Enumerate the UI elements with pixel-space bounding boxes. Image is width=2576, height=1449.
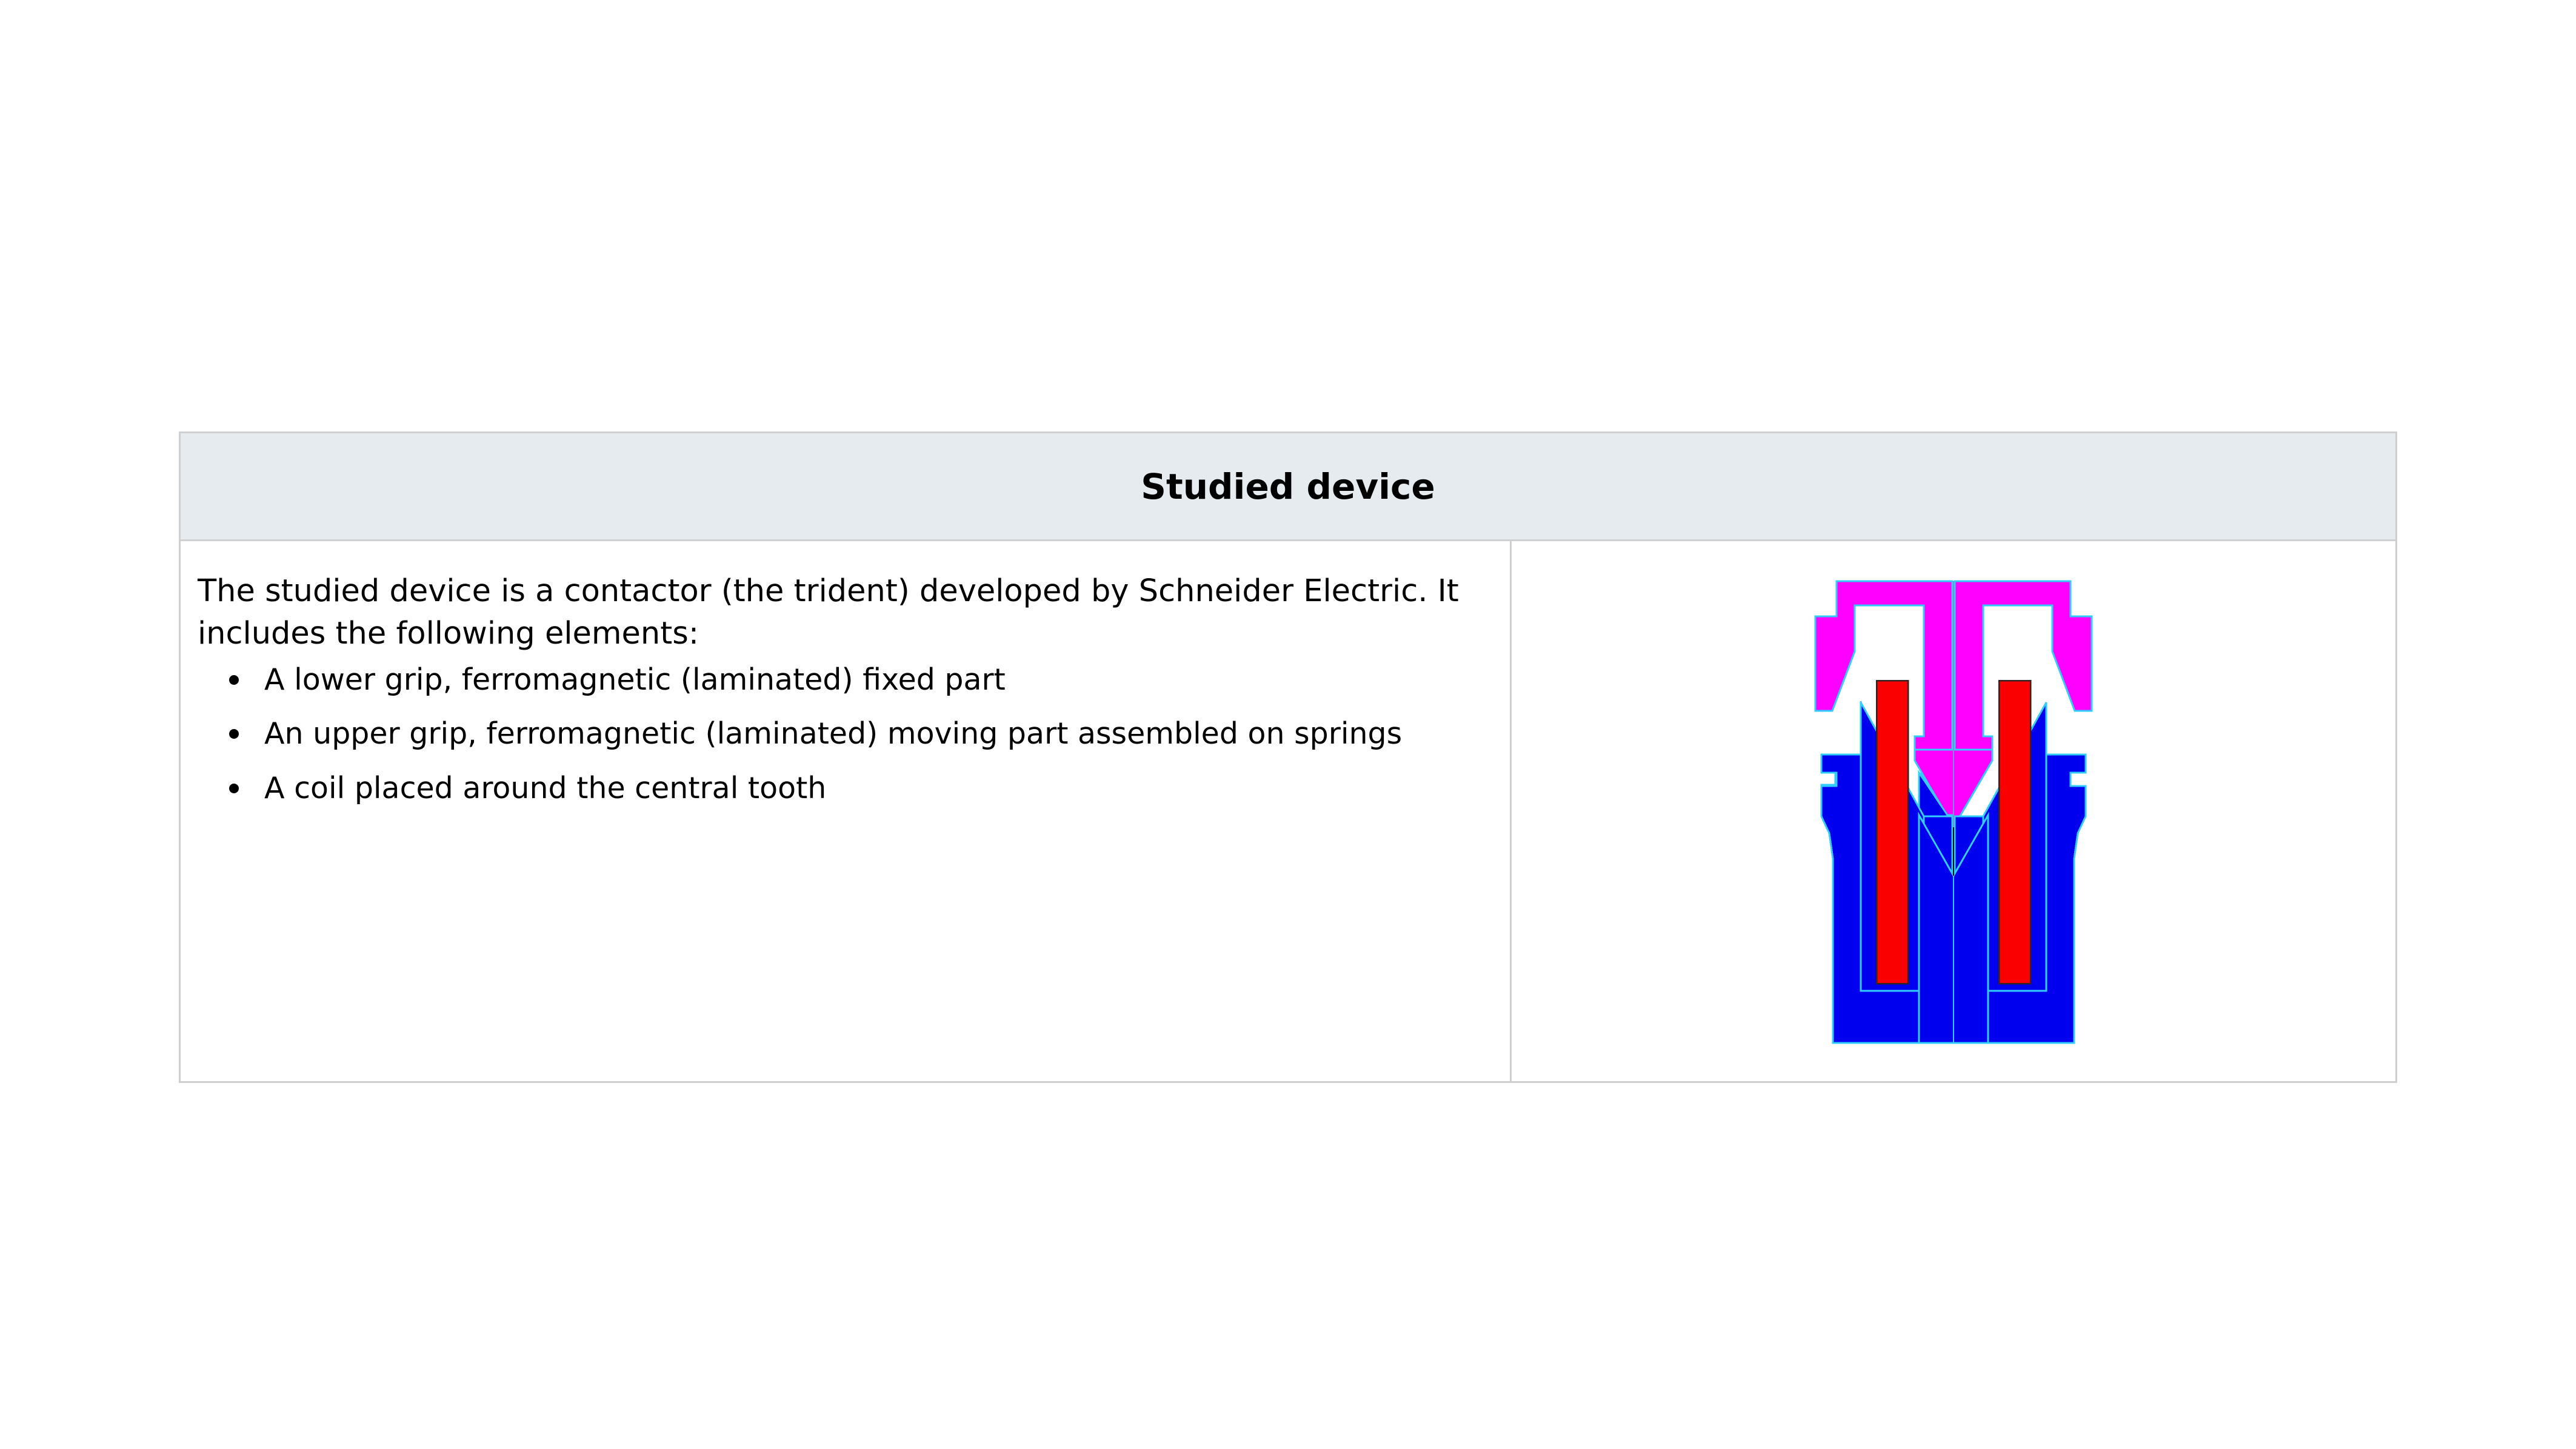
intro-paragraph: The studied device is a contactor (the t… xyxy=(198,570,1486,656)
studied-device-table: Studied device The studied device is a c… xyxy=(179,431,2397,1083)
list-item: A lower grip, ferromagnetic (laminated) … xyxy=(198,659,1483,701)
table-body-row: The studied device is a contactor (the t… xyxy=(181,541,2395,1083)
elements-list: A lower grip, ferromagnetic (laminated) … xyxy=(198,659,1486,809)
bullet-icon xyxy=(229,675,239,685)
description-cell: The studied device is a contactor (the t… xyxy=(181,541,1512,1083)
list-item: A coil placed around the central tooth xyxy=(198,768,1483,809)
coil-right xyxy=(1999,681,2030,984)
list-item-label: A coil placed around the central tooth xyxy=(264,771,826,805)
figure-cell xyxy=(1512,541,2395,1083)
table-header-row: Studied device xyxy=(181,433,2395,541)
list-item-label: A lower grip, ferromagnetic (laminated) … xyxy=(264,662,1006,697)
bullet-icon xyxy=(229,729,239,739)
page-title: Studied device xyxy=(1141,466,1435,507)
bullet-icon xyxy=(229,784,239,793)
coil-left xyxy=(1877,681,1908,984)
list-item: An upper grip, ferromagnetic (laminated)… xyxy=(198,713,1483,754)
list-item-label: An upper grip, ferromagnetic (laminated)… xyxy=(264,716,1402,751)
contactor-trident-diagram xyxy=(1811,573,2096,1051)
